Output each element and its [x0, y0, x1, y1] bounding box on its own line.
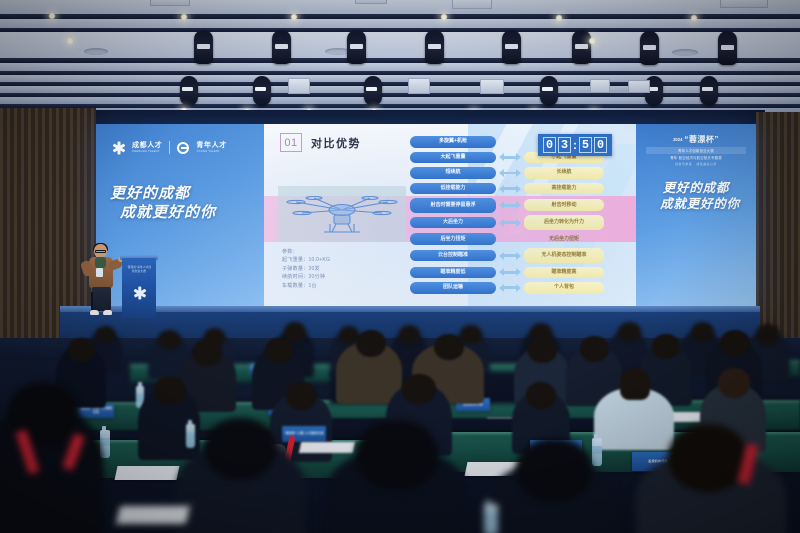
- stage-spotlight: [540, 76, 558, 106]
- audience-head: [402, 374, 436, 404]
- ceiling-fixture: [288, 78, 310, 94]
- slogan-line-2: 成就更好的你: [120, 203, 252, 222]
- foreground-audience-head: [668, 424, 748, 492]
- logo-primary-en: CHENGDU TALENT: [132, 150, 162, 153]
- foreground-audience-head: [516, 438, 592, 502]
- banner-title: “蓉漂杯”: [684, 135, 719, 144]
- comparison-right-chip: 射击时移动: [524, 199, 604, 211]
- ceiling-downlight: [690, 14, 698, 22]
- banner-year: 2024: [673, 137, 682, 142]
- audience-head: [154, 376, 186, 405]
- comparison-left-chip: 云台控制瞄准: [410, 250, 496, 262]
- audience-head: [356, 330, 386, 357]
- presenter-scarf: [95, 257, 106, 268]
- podium-snowflake-logo-icon: [133, 286, 146, 299]
- ceiling-downlight: [48, 12, 56, 20]
- logo-primary-cn: 成都人才: [132, 142, 162, 149]
- placard-text: “蓉漂杯”大赛 人才服务专员: [78, 407, 114, 415]
- ceiling-downlight: [180, 13, 188, 21]
- comparison-row: 团队运输 个人背包: [410, 280, 632, 296]
- audience-head: [284, 322, 306, 342]
- audience-head: [96, 326, 115, 343]
- audience-head: [434, 334, 464, 360]
- ceiling-fixture: [590, 79, 610, 93]
- stage-spotlight: [364, 76, 382, 106]
- audience-head: [286, 382, 317, 410]
- banner-subtitle-1: 青年人才创新创业大赛: [646, 147, 746, 154]
- ceiling-fixture: [355, 0, 387, 4]
- screen-right-branding-panel: 2024“蓉漂杯” 青年人才创新创业大赛 青年·航空经济与航空航天专题赛 创新与…: [636, 124, 756, 312]
- param-item: 起飞重量：10.0+KG: [282, 256, 330, 264]
- audience-head: [526, 382, 556, 409]
- comparison-right-chip: 无人机姿态控制瞄准: [524, 248, 604, 263]
- audience-head: [158, 330, 181, 350]
- stage-spotlight: [347, 30, 366, 64]
- right-panel-slogan: 更好的成都 成就更好的你: [642, 180, 750, 213]
- comparison-left-chip: 大起飞重量: [410, 152, 496, 164]
- logo-secondary-en: YOUNG TALENT: [196, 150, 226, 153]
- youth-talent-logo-icon: [177, 142, 189, 154]
- countdown-timer: 0 3 : 5 0: [538, 134, 612, 156]
- audience-head: [691, 322, 714, 342]
- ceiling-fixture: [150, 0, 190, 6]
- comparison-left-chip: 低挂载能力: [410, 183, 496, 195]
- left-panel-slogan: 更好的成都 成就更好的你: [110, 184, 252, 222]
- slide-section-number: 01: [280, 133, 302, 152]
- comparison-right-chip: 长续航: [524, 167, 604, 179]
- banner-title-row: 2024“蓉漂杯”: [646, 134, 746, 145]
- audience-head: [192, 340, 222, 366]
- ceiling-panel: [0, 97, 800, 104]
- comparison-left-chip: 大后坐力: [410, 217, 496, 229]
- timer-minutes-ones: 3: [558, 137, 571, 153]
- comparison-arrow-icon: [499, 153, 521, 161]
- ceiling-downlight: [66, 37, 74, 45]
- audience-head: [618, 322, 641, 342]
- logo-secondary-text: 青年人才 YOUNG TALENT: [196, 142, 226, 152]
- ceiling-panel: [0, 63, 800, 71]
- ceiling: [0, 0, 800, 118]
- comparison-left-chip: 短续航: [410, 167, 496, 179]
- logo-divider: [169, 141, 170, 154]
- stage-spotlight: [640, 31, 659, 65]
- drone-parameters: 参数： 起飞重量：10.0+KG 子弹数量：20发 续航时间：20分钟 车载数量…: [282, 248, 330, 290]
- timer-minutes-tens: 0: [543, 137, 556, 153]
- comparison-right-chip: 个人背包: [524, 282, 604, 294]
- sponsor-logos: 成都人才 CHENGDU TALENT 青年人才 YOUNG TALENT: [112, 141, 227, 154]
- timer-seconds-tens: 5: [579, 137, 592, 153]
- audience-head: [652, 334, 680, 359]
- podium: “蓉漂杯”青年人才创新创业大赛: [122, 258, 156, 318]
- stage-spotlight: [180, 76, 198, 106]
- comparison-arrow-icon: [499, 201, 521, 209]
- comparison-right-chip: 瞄准精度高: [524, 267, 604, 279]
- slogan-line-1: 更好的成都: [110, 184, 252, 203]
- logo-secondary-cn: 青年人才: [196, 142, 226, 149]
- ceiling-fixture: [480, 79, 504, 94]
- timer-seconds-ones: 0: [594, 137, 607, 153]
- water-bottle: [592, 438, 602, 466]
- podium-text: “蓉漂杯”青年人才创新创业大赛: [126, 266, 152, 273]
- comparison-left-chip: 射击时需要停留悬浮: [410, 198, 496, 213]
- ceiling-vent: [84, 48, 108, 55]
- competition-banner: 2024“蓉漂杯” 青年人才创新创业大赛 青年·航空经济与航空航天专题赛 创新与…: [646, 134, 746, 166]
- comparison-row: 瞄准精度低 瞄准精度高: [410, 264, 632, 280]
- audience-head: [756, 324, 780, 345]
- comparison-right-chip: 后坐力转化为升力: [524, 215, 604, 230]
- ceiling-panel: [0, 19, 800, 28]
- slide-header: 01 对比优势: [280, 133, 361, 152]
- stage-spotlight: [572, 30, 591, 64]
- comparison-left-chip: 瞄准精度低: [410, 267, 496, 279]
- banner-subtitle-2: 青年·航空经济与航空航天专题赛: [646, 155, 746, 160]
- comparison-arrow-icon: [499, 169, 521, 177]
- presenter-left-shoe: [90, 310, 99, 315]
- foreground-audience-head: [204, 418, 276, 480]
- ceiling-panel: [0, 86, 800, 93]
- audience-head: [718, 368, 750, 398]
- ceiling-vent: [672, 49, 698, 56]
- audience-head: [265, 338, 293, 363]
- audience-head: [528, 338, 557, 363]
- comparison-arrow-icon: [499, 284, 521, 292]
- ceiling-fixture: [452, 0, 492, 9]
- logo-primary-text: 成都人才 CHENGDU TALENT: [132, 142, 162, 152]
- stage-spotlight: [272, 30, 291, 64]
- drone-icon: [286, 191, 398, 237]
- param-item: 车载数量：1台: [282, 282, 330, 290]
- presenter-right-shoe: [103, 310, 112, 315]
- banner-subtitle-3: 创新与未来 · 成就美好心梦: [646, 162, 746, 166]
- water-bottle: [484, 504, 498, 533]
- params-title: 参数：: [282, 248, 330, 256]
- handout-paper: [116, 506, 190, 524]
- comparison-right-chip: 无后坐力扭矩: [524, 233, 604, 245]
- presenter: [82, 244, 122, 316]
- audience-head: [720, 330, 750, 356]
- comparison-arrow-icon: [499, 252, 521, 260]
- comparison-row: 云台控制瞄准 无人机姿态控制瞄准: [410, 247, 632, 265]
- ceiling-fixture: [720, 0, 768, 8]
- ceiling-panel: [0, 75, 800, 82]
- ceiling-downlight: [440, 13, 448, 21]
- slogan-line-2: 成就更好的你: [650, 196, 750, 212]
- comparison-row: 短续航 长续航: [410, 165, 632, 181]
- comparison-row: 低挂载能力 高挂载能力: [410, 181, 632, 197]
- slogan-line-1: 更好的成都: [642, 180, 750, 196]
- audience-head: [580, 336, 609, 362]
- foreground-audience-head: [356, 420, 438, 490]
- comparison-row: 后坐力扭矩 无后坐力扭矩: [410, 231, 632, 247]
- param-item: 子弹数量：20发: [282, 265, 330, 273]
- presenter-leg-gap: [91, 292, 93, 311]
- ceiling-downlight: [290, 13, 298, 21]
- comparison-row: 射击时需要停留悬浮 射击时移动: [410, 196, 632, 214]
- conference-hall-scene: 成都人才 CHENGDU TALENT 青年人才 YOUNG TALENT 更好…: [0, 0, 800, 533]
- water-bottle: [186, 424, 195, 448]
- drone-illustration-box: [278, 186, 406, 242]
- audience-head: [399, 325, 420, 344]
- comparison-row: 大后坐力 后坐力转化为升力: [410, 214, 632, 232]
- handout-paper: [299, 442, 355, 453]
- comparison-table: 多旋翼+机枪 融合设计 大起飞重量 小起飞重量 短续航 长续航 低挂载能力: [410, 134, 632, 296]
- audience-head: [68, 338, 95, 362]
- audience-head: [620, 368, 650, 400]
- ceiling-panel: [0, 0, 800, 14]
- presenter-glasses: [95, 250, 106, 253]
- snowflake-logo-icon: [112, 141, 125, 154]
- ceiling-downlight: [588, 37, 596, 45]
- handout-paper: [115, 466, 180, 480]
- stage-spotlight: [700, 76, 718, 106]
- comparison-left-chip: 多旋翼+机枪: [410, 136, 496, 148]
- timer-separator: :: [573, 138, 577, 152]
- slide-section-title: 对比优势: [311, 135, 361, 151]
- stage-spotlight: [194, 30, 213, 64]
- stage-spotlight: [253, 76, 271, 106]
- comparison-arrow-icon: [499, 268, 521, 276]
- presenter-badge: [96, 268, 103, 277]
- ceiling-downlight: [555, 14, 563, 22]
- comparison-left-chip: 后坐力扭矩: [410, 233, 496, 245]
- led-presentation-screen: 成都人才 CHENGDU TALENT 青年人才 YOUNG TALENT 更好…: [96, 124, 756, 312]
- comparison-left-chip: 团队运输: [410, 282, 496, 294]
- stage-spotlight: [718, 31, 737, 65]
- ceiling-fixture: [408, 78, 430, 94]
- comparison-right-chip: 高挂载能力: [524, 183, 604, 195]
- presenter-trousers: [92, 287, 111, 311]
- comparison-arrow-icon: [499, 219, 521, 227]
- comparison-arrow-icon: [499, 185, 521, 193]
- audience-head: [460, 325, 482, 344]
- param-item: 续航时间：20分钟: [282, 273, 330, 281]
- stage-spotlight: [502, 30, 521, 64]
- stage-spotlight: [425, 30, 444, 64]
- ceiling-fixture: [628, 80, 650, 93]
